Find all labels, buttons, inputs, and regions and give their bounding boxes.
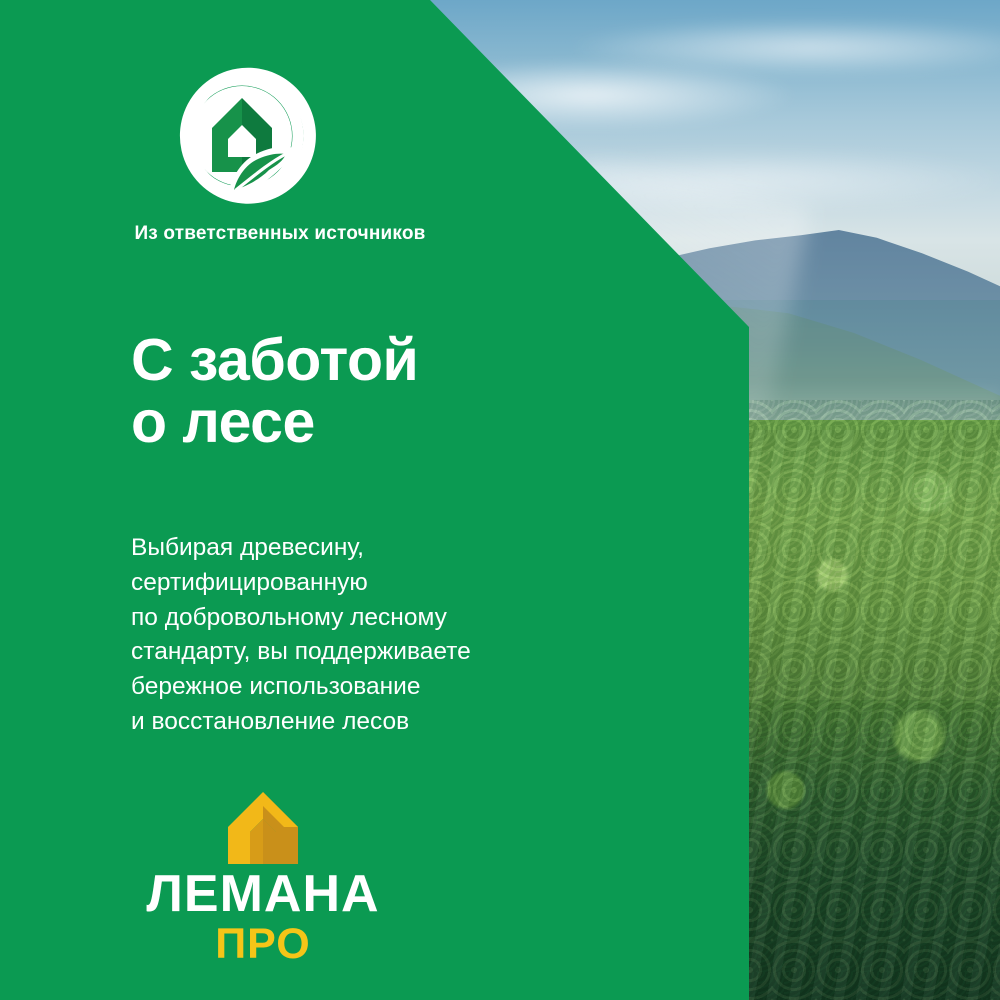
poster-canvas: Из ответственных источников С заботой о … [0,0,1000,1000]
brand-name: ЛЕМАНА [133,868,393,920]
body-paragraph: Выбирая древесину, сертифицированную по … [131,531,471,740]
house-leaf-circle-icon [168,62,316,210]
lemana-house-icon [220,790,306,866]
brand-lockup: ЛЕМАНА ПРО [133,790,393,967]
certification-caption: Из ответственных источников [130,222,430,245]
certification-badge: Из ответственных источников [130,62,470,245]
page-title: С заботой о лесе [131,330,418,454]
brand-sub-name: ПРО [133,922,393,967]
